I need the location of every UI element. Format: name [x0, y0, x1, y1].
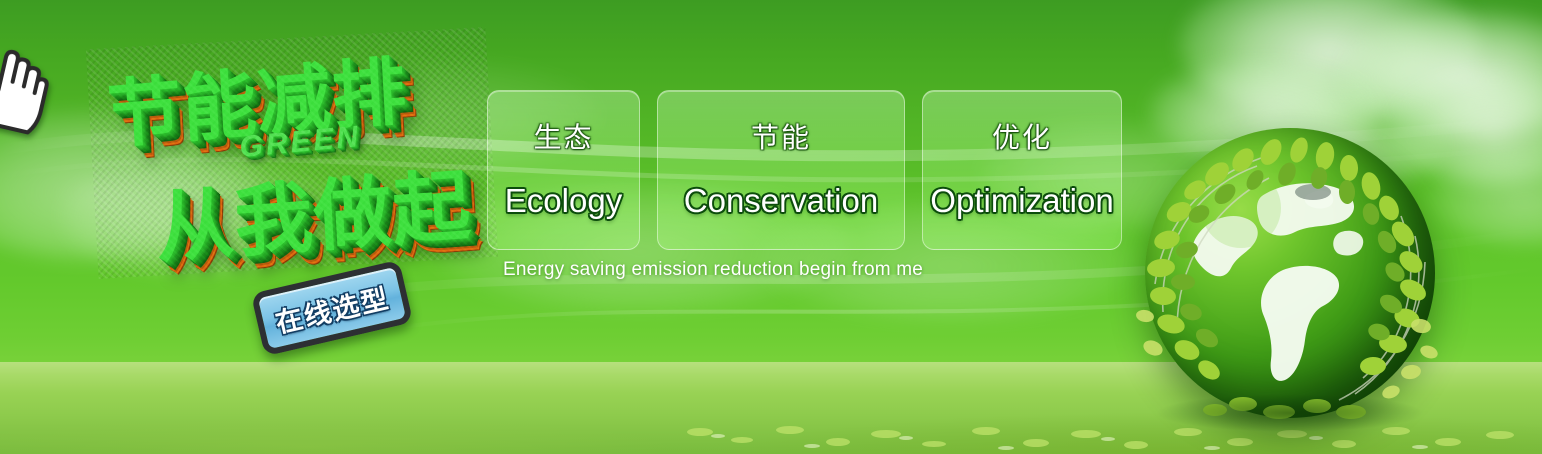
card-label-cn: 优化 [992, 116, 1052, 156]
headline-3d: 节能减排 GREEN 从我做起 [86, 27, 498, 279]
card-label-en: Optimization [930, 182, 1113, 220]
hand-pointer-icon [0, 39, 59, 139]
card-label-en: Conservation [684, 182, 878, 220]
cloud-icon [1180, 0, 1480, 120]
feature-card-group: 生态 Ecology 节能 Conservation 优化 Optimizati… [487, 90, 1122, 250]
feature-card-ecology[interactable]: 生态 Ecology [487, 90, 640, 250]
card-label-en: Ecology [505, 182, 622, 220]
cloud-icon [1340, 10, 1542, 135]
headline-line-bottom: 从我做起 [153, 143, 474, 278]
green-leaf-globe [1145, 128, 1435, 418]
globe-continents [1145, 128, 1435, 418]
banner-subtitle: Energy saving emission reduction begin f… [503, 259, 923, 281]
cta-button-label: 在线选型 [251, 260, 414, 357]
online-selection-cta[interactable]: 在线选型 [251, 260, 414, 357]
feature-card-conservation[interactable]: 节能 Conservation [657, 90, 905, 250]
green-energy-banner: 节能减排 GREEN 从我做起 生态 Ecology 节能 Conservati… [0, 0, 1542, 454]
cloud-icon [1430, 150, 1542, 245]
globe-sphere [1145, 128, 1435, 418]
card-label-cn: 节能 [751, 116, 811, 156]
card-label-cn: 生态 [533, 116, 593, 156]
globe-drop-shadow [1155, 394, 1425, 432]
feature-card-optimization[interactable]: 优化 Optimization [922, 90, 1122, 250]
